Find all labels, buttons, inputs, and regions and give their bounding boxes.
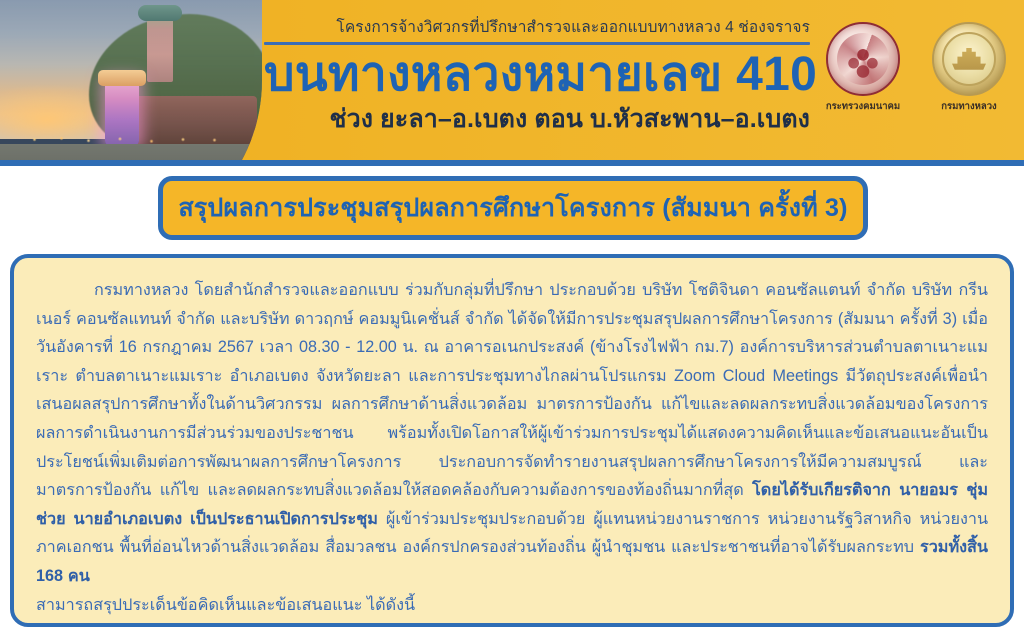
department-of-highways-seal-icon <box>932 22 1006 96</box>
photo-overlay-haze <box>0 0 262 160</box>
ministry-of-transport-seal-icon <box>826 22 900 96</box>
summary-paragraph: กรมทางหลวง โดยสำนักสำรวจและออกแบบ ร่วมกั… <box>36 276 988 591</box>
agency-logos: กระทรวงคมนาคม กรมทางหลวง <box>822 22 1010 113</box>
banner-zone: สรุปผลการประชุมสรุปผลการศึกษาโครงการ (สั… <box>0 166 1024 254</box>
logo-department-of-highways: กรมทางหลวง <box>928 22 1010 113</box>
meeting-summary-banner: สรุปผลการประชุมสรุปผลการศึกษาโครงการ (สั… <box>158 176 868 240</box>
closing-line: สามารถสรุปประเด็นข้อคิดเห็นและข้อเสนอแนะ… <box>36 591 988 620</box>
project-subtitle: โครงการจ้างวิศวกรที่ปรึกษาสำรวจและออกแบบ… <box>264 18 810 38</box>
header-photo <box>0 0 262 160</box>
body-panel: กรมทางหลวง โดยสำนักสำรวจและออกแบบ ร่วมกั… <box>10 254 1014 627</box>
banner-title-text: สรุปผลการประชุมสรุปผลการศึกษาโครงการ (สั… <box>178 193 847 223</box>
document-page: โครงการจ้างวิศวกรที่ปรึกษาสำรวจและออกแบบ… <box>0 0 1024 637</box>
logo-caption-highways: กรมทางหลวง <box>928 101 1010 113</box>
highway-section-title: ช่วง ยะลา–อ.เบตง ตอน บ.หัวสะพาน–อ.เบตง <box>264 103 810 135</box>
title-divider <box>264 42 810 45</box>
text-run: กรมทางหลวง โดยสำนักสำรวจและออกแบบ ร่วมกั… <box>36 281 988 499</box>
document-header: โครงการจ้างวิศวกรที่ปรึกษาสำรวจและออกแบบ… <box>0 0 1024 160</box>
highway-number-title: บนทางหลวงหมายเลข 410 <box>264 48 810 102</box>
logo-caption-ministry: กระทรวงคมนาคม <box>822 101 904 113</box>
header-title-block: โครงการจ้างวิศวกรที่ปรึกษาสำรวจและออกแบบ… <box>264 18 810 135</box>
logo-ministry-of-transport: กระทรวงคมนาคม <box>822 22 904 113</box>
